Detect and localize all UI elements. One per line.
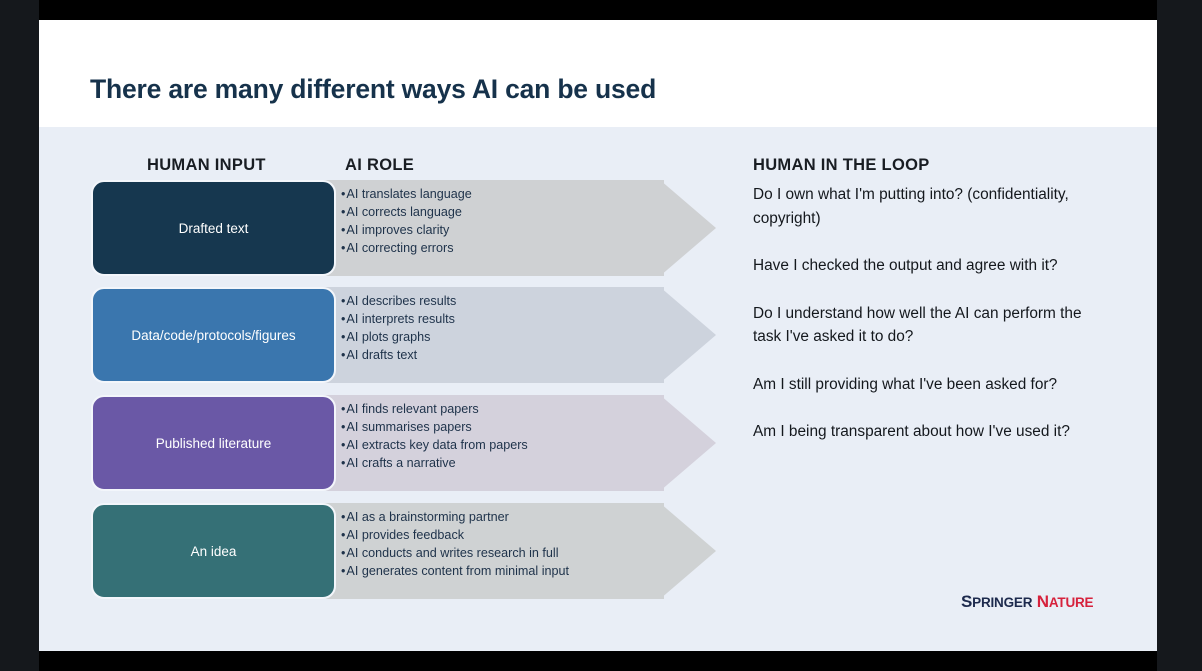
ai-role-list: AI as a brainstorming partner AI provide… xyxy=(341,508,671,580)
slide-canvas: There are many different ways AI can be … xyxy=(39,20,1157,651)
ai-role-item: AI correcting errors xyxy=(341,239,671,257)
ai-role-item: AI crafts a narrative xyxy=(341,454,671,472)
logo-springer-cap: S xyxy=(961,592,972,611)
ai-role-list: AI describes results AI interprets resul… xyxy=(341,292,671,364)
left-margin xyxy=(0,0,39,671)
ai-role-item: AI plots graphs xyxy=(341,328,671,346)
ai-role-item: AI extracts key data from papers xyxy=(341,436,671,454)
human-input-chip[interactable]: An idea xyxy=(91,503,336,599)
human-input-chip[interactable]: Published literature xyxy=(91,395,336,491)
human-in-the-loop-question: Do I understand how well the AI can perf… xyxy=(753,302,1083,349)
human-in-the-loop-question: Do I own what I'm putting into? (confide… xyxy=(753,183,1083,230)
human-in-the-loop-question: Am I being transparent about how I've us… xyxy=(753,420,1083,444)
ai-role-item: AI drafts text xyxy=(341,346,671,364)
human-input-chip-label: Published literature xyxy=(148,436,280,451)
human-input-chip-label: An idea xyxy=(183,544,245,559)
ai-role-item: AI conducts and writes research in full xyxy=(341,544,671,562)
human-in-the-loop-list: Do I own what I'm putting into? (confide… xyxy=(753,183,1083,468)
column-header-human-in-the-loop: HUMAN IN THE LOOP xyxy=(753,156,930,175)
top-letterbox-bar xyxy=(39,0,1157,20)
ai-role-item: AI as a brainstorming partner xyxy=(341,508,671,526)
human-input-chip[interactable]: Drafted text xyxy=(91,180,336,276)
page-title: There are many different ways AI can be … xyxy=(90,74,656,105)
springer-nature-logo: SPRINGER NATURE xyxy=(961,592,1093,612)
ai-role-item: AI finds relevant papers xyxy=(341,400,671,418)
human-input-chip-label: Drafted text xyxy=(171,221,257,236)
ai-role-item: AI describes results xyxy=(341,292,671,310)
human-in-the-loop-question: Have I checked the output and agree with… xyxy=(753,254,1083,278)
human-in-the-loop-question: Am I still providing what I've been aske… xyxy=(753,373,1083,397)
ai-role-item: AI summarises papers xyxy=(341,418,671,436)
ai-role-list: AI finds relevant papers AI summarises p… xyxy=(341,400,671,472)
ai-role-item: AI generates content from minimal input xyxy=(341,562,671,580)
logo-nature-rest: ATURE xyxy=(1049,595,1094,610)
logo-nature-cap: N xyxy=(1037,592,1049,611)
logo-springer-rest: PRINGER xyxy=(972,595,1032,610)
right-margin xyxy=(1157,0,1202,671)
ai-role-item: AI translates language xyxy=(341,185,671,203)
human-input-chip[interactable]: Data/code/protocols/figures xyxy=(91,287,336,383)
flow-row: An idea AI as a brainstorming partner AI… xyxy=(39,503,1157,599)
column-header-human-input: HUMAN INPUT xyxy=(147,156,266,175)
ai-role-item: AI corrects language xyxy=(341,203,671,221)
ai-role-item: AI improves clarity xyxy=(341,221,671,239)
ai-role-item: AI provides feedback xyxy=(341,526,671,544)
bottom-letterbox-bar xyxy=(39,651,1157,671)
ai-role-item: AI interprets results xyxy=(341,310,671,328)
human-input-chip-label: Data/code/protocols/figures xyxy=(123,328,303,343)
screenshot-viewport: There are many different ways AI can be … xyxy=(0,0,1202,671)
column-header-ai-role: AI ROLE xyxy=(345,156,414,175)
ai-role-list: AI translates language AI corrects langu… xyxy=(341,185,671,257)
